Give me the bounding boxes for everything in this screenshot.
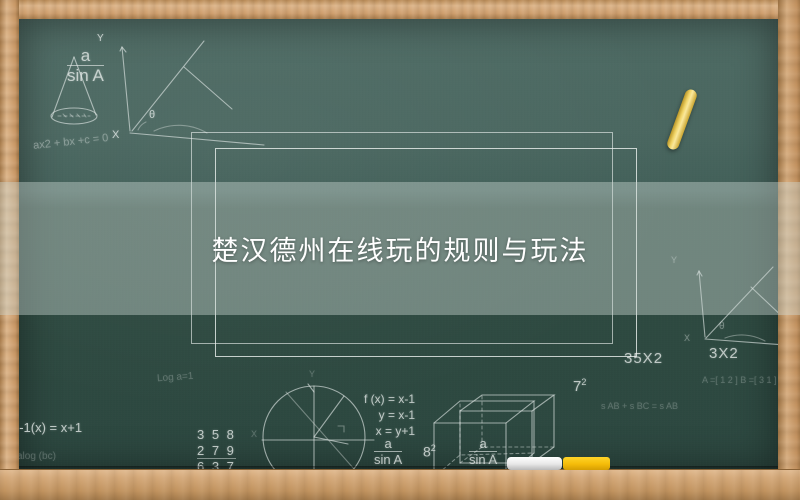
page-title: 楚汉德州在线玩的规则与玩法 <box>212 229 589 268</box>
faint-segment-expression: s AB + s BC = s AB <box>601 401 678 411</box>
chalkboard-banner-stage: a sin A Y X θ ax2 + bx +c = 0 Y X <box>0 0 800 500</box>
axis-label-x-topleft: X <box>112 129 119 141</box>
grid-row-1: 3 5 8 <box>197 427 236 443</box>
arithmetic-grid-note: 3 5 8 2 7 9 6 3 7 <box>197 427 236 470</box>
angle-label-theta-topleft: θ <box>149 109 155 121</box>
wood-frame-top <box>0 0 800 19</box>
label-3x2: 3X2 <box>709 345 739 362</box>
yellow-chalk-piece-icon <box>563 457 610 470</box>
matrix-expression-note: A =[ 1 2 ] B =[ 3 1 ] I =[ 1 0 ] <box>702 375 778 385</box>
axis-label-y-topleft: Y <box>97 33 104 44</box>
circle-radii-sketch-icon <box>252 374 392 470</box>
angle-label-theta-right: θ <box>719 321 725 332</box>
grid-row-2: 2 7 9 <box>197 443 236 460</box>
log-bc-note: alog (bc) <box>19 451 56 462</box>
wood-frame-bottom-ledge <box>0 469 800 500</box>
log-a-note: Log a=1 <box>157 371 194 385</box>
white-chalk-piece-icon <box>507 457 562 470</box>
title-banner-band: 楚汉德州在线玩的规则与玩法 <box>0 182 800 315</box>
inverse-function-note: f -1(x) = x+1 <box>19 420 82 435</box>
axis-label-x-right: X <box>684 333 690 343</box>
axis-label-y-bottomright: Y <box>309 369 315 379</box>
seven-squared-note: 72 <box>573 377 586 395</box>
axis-label-x-bottomright: X <box>251 429 257 439</box>
